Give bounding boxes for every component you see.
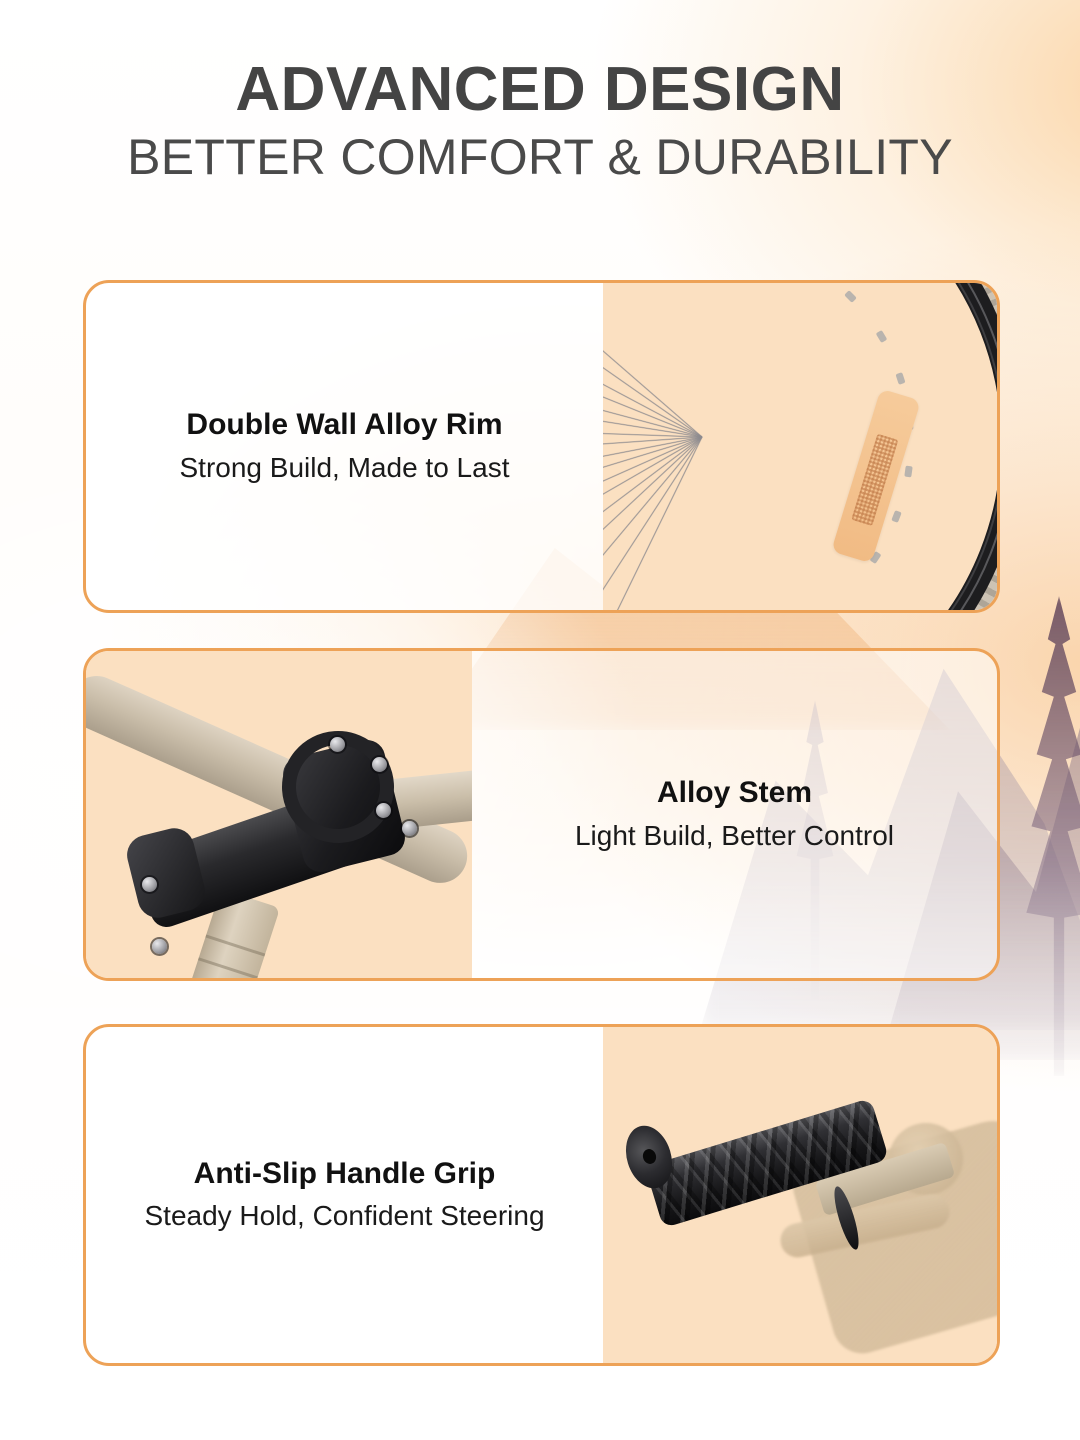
feature-subtitle: Strong Build, Made to Last [180,451,510,485]
bolt-icon-2 [372,757,387,772]
feature-text-block: Double Wall Alloy Rim Strong Build, Made… [86,283,603,610]
handle-grip-illustration [603,1027,997,1363]
feature-image-grip [603,1027,997,1363]
bicycle-wheel-illustration [603,283,997,610]
bolt-icon-3 [376,803,391,818]
feature-text-block: Alloy Stem Light Build, Better Control [472,651,997,978]
feature-subtitle: Steady Hold, Confident Steering [144,1199,544,1233]
feature-subtitle: Light Build, Better Control [575,819,894,853]
steerer-ring-1 [205,934,265,956]
bolt-icon-5 [142,877,157,892]
feature-title: Anti-Slip Handle Grip [194,1157,496,1192]
feature-image-wheel [603,283,997,610]
rim-inner-line [603,283,997,610]
feature-card-alloy-stem: Alloy Stem Light Build, Better Control [83,648,1000,981]
bolt-icon-1 [330,737,345,752]
bolt-icon-4 [402,821,417,836]
bolt-icon-6 [152,939,167,954]
feature-image-stem [86,651,472,978]
pine-tree-large-icon [1016,596,1080,1076]
feature-title: Double Wall Alloy Rim [186,408,502,443]
page-title: ADVANCED DESIGN [0,58,1080,121]
alloy-stem-illustration [86,651,472,978]
infographic-page: ADVANCED DESIGN BETTER COMFORT & DURABIL… [0,0,1080,1440]
page-header: ADVANCED DESIGN BETTER COMFORT & DURABIL… [0,58,1080,184]
feature-text-block: Anti-Slip Handle Grip Steady Hold, Confi… [86,1027,603,1363]
page-subtitle: BETTER COMFORT & DURABILITY [0,131,1080,184]
steerer-ring-2 [198,957,258,978]
feature-card-anti-slip-handle-grip: Anti-Slip Handle Grip Steady Hold, Confi… [83,1024,1000,1366]
spoke-nipple-icon [904,465,912,477]
feature-title: Alloy Stem [657,776,812,811]
feature-card-double-wall-alloy-rim: Double Wall Alloy Rim Strong Build, Made… [83,280,1000,613]
